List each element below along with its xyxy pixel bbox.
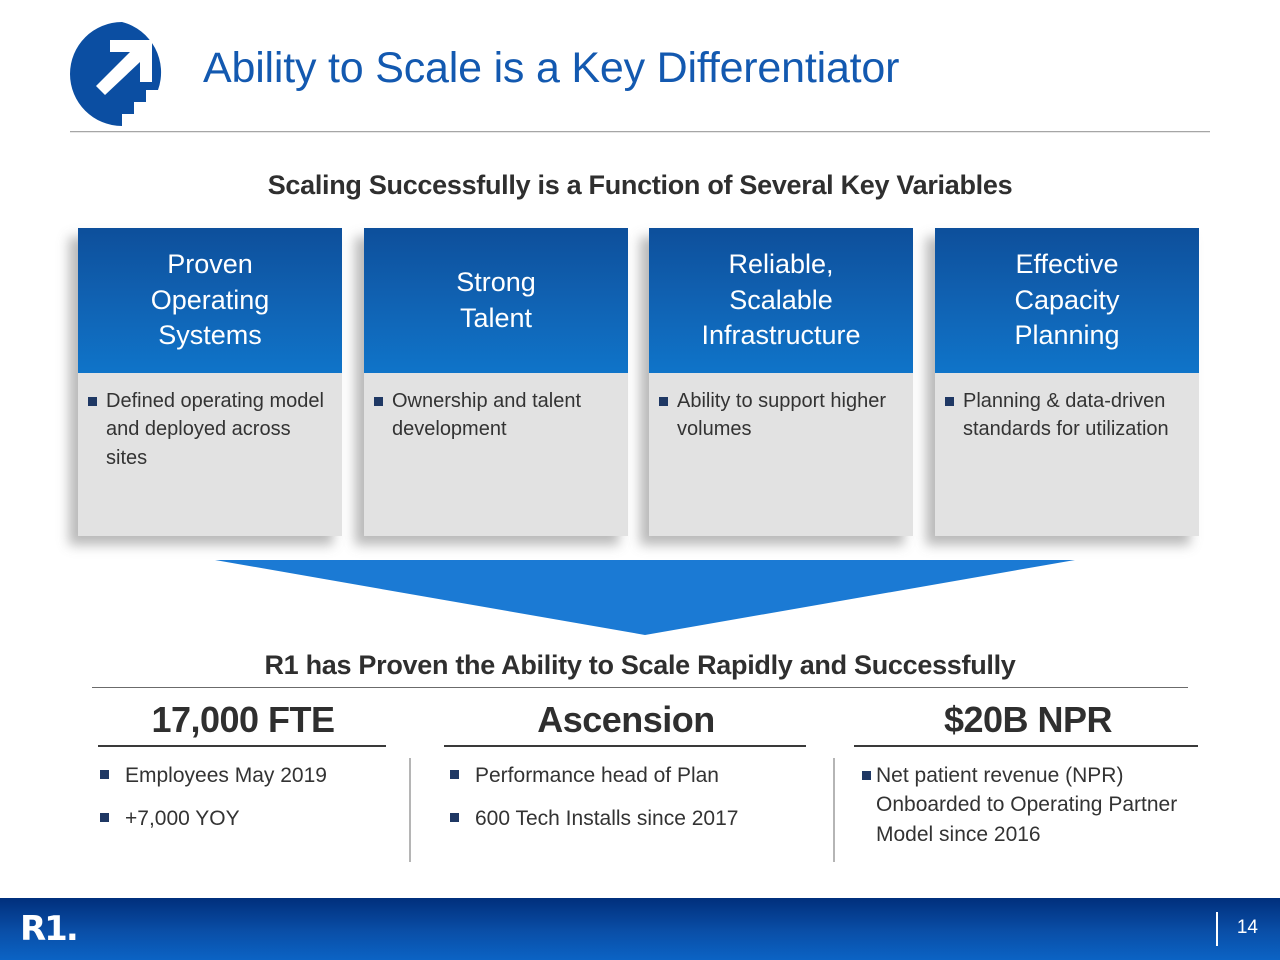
stat-value: 17,000 FTE (84, 700, 402, 740)
card-body: Ownership and talent development (364, 373, 628, 536)
proof-points-row: 17,000 FTE Employees May 2019 +7,000 YOY… (0, 700, 1280, 868)
card-bullet-text: Defined operating model and deployed acr… (106, 387, 332, 472)
footer-divider (1216, 912, 1218, 946)
card-header-line: Scalable (701, 283, 860, 319)
bullet-square-icon (100, 770, 109, 779)
card-header-line: Talent (456, 301, 536, 337)
card-reliable-scalable-infrastructure: Reliable, Scalable Infrastructure Abilit… (649, 228, 913, 536)
card-bullet-text: Ability to support higher volumes (677, 387, 903, 444)
card-header-line: Systems (151, 318, 270, 354)
stat-column-ascension: Ascension Performance head of Plan 600 T… (432, 700, 820, 848)
page-title: Ability to Scale is a Key Differentiator (203, 44, 899, 93)
section-subtitle: Scaling Successfully is a Function of Se… (0, 170, 1280, 201)
stat-bullet-item: Net patient revenue (NPR) Onboarded to O… (848, 761, 1208, 850)
stat-bullet-text: +7,000 YOY (125, 804, 240, 834)
card-bullet-item: Planning & data-driven standards for uti… (945, 387, 1189, 444)
card-header: Proven Operating Systems (78, 228, 342, 373)
bullet-square-icon (100, 813, 109, 822)
card-bullet-item: Defined operating model and deployed acr… (88, 387, 332, 472)
stat-column-divider (409, 758, 411, 862)
slide-footer: R1. 14 (0, 898, 1280, 960)
bullet-square-icon (945, 397, 954, 406)
card-header-line: Infrastructure (701, 318, 860, 354)
card-bullet-text: Ownership and talent development (392, 387, 618, 444)
card-body: Ability to support higher volumes (649, 373, 913, 536)
stat-bullet-item: 600 Tech Installs since 2017 (432, 804, 820, 834)
stat-column-fte: 17,000 FTE Employees May 2019 +7,000 YOY (84, 700, 402, 848)
stat-value: Ascension (432, 700, 820, 740)
slide-header: Ability to Scale is a Key Differentiator (0, 0, 1280, 140)
card-header-line: Strong (456, 265, 536, 301)
bullet-square-icon (862, 771, 871, 780)
page-number: 14 (1237, 917, 1258, 939)
r1-arrow-logo-icon (70, 22, 174, 126)
card-header: Effective Capacity Planning (935, 228, 1199, 373)
card-header-line: Capacity (1014, 283, 1119, 319)
header-divider (70, 131, 1210, 133)
stat-column-npr: $20B NPR Net patient revenue (NPR) Onboa… (848, 700, 1208, 864)
stat-underline (444, 745, 806, 747)
card-header: Reliable, Scalable Infrastructure (649, 228, 913, 373)
card-effective-capacity-planning: Effective Capacity Planning Planning & d… (935, 228, 1199, 536)
footer-logo-text: R1. (20, 912, 77, 946)
stat-bullet-text: 600 Tech Installs since 2017 (475, 804, 738, 834)
bullet-square-icon (659, 397, 668, 406)
r1-wordmark-logo: R1. (20, 912, 77, 946)
stat-underline (854, 745, 1198, 747)
bullet-square-icon (450, 770, 459, 779)
card-proven-operating-systems: Proven Operating Systems Defined operati… (78, 228, 342, 536)
card-bullet-item: Ability to support higher volumes (659, 387, 903, 444)
stat-bullet-text: Net patient revenue (NPR) Onboarded to O… (876, 761, 1208, 850)
proof-points-heading: R1 has Proven the Ability to Scale Rapid… (0, 650, 1280, 681)
key-variables-card-row: Proven Operating Systems Defined operati… (0, 228, 1280, 540)
stat-value: $20B NPR (848, 700, 1208, 740)
card-body: Planning & data-driven standards for uti… (935, 373, 1199, 536)
stat-bullet-text: Performance head of Plan (475, 761, 719, 791)
card-bullet-text: Planning & data-driven standards for uti… (963, 387, 1189, 444)
stat-underline (98, 745, 386, 747)
stat-bullet-item: +7,000 YOY (84, 804, 402, 834)
proof-points-divider (92, 687, 1188, 688)
card-header-line: Effective (1014, 247, 1119, 283)
card-body: Defined operating model and deployed acr… (78, 373, 342, 536)
down-arrow-icon (215, 560, 1075, 635)
stat-bullet-item: Performance head of Plan (432, 761, 820, 791)
card-bullet-item: Ownership and talent development (374, 387, 618, 444)
stat-column-divider (833, 758, 835, 862)
stat-bullet-text: Employees May 2019 (125, 761, 327, 791)
bullet-square-icon (450, 813, 459, 822)
bullet-square-icon (88, 397, 97, 406)
card-strong-talent: Strong Talent Ownership and talent devel… (364, 228, 628, 536)
card-header: Strong Talent (364, 228, 628, 373)
card-header-line: Operating (151, 283, 270, 319)
stat-bullet-item: Employees May 2019 (84, 761, 402, 791)
bullet-square-icon (374, 397, 383, 406)
card-header-line: Reliable, (701, 247, 860, 283)
card-header-line: Proven (151, 247, 270, 283)
card-header-line: Planning (1014, 318, 1119, 354)
